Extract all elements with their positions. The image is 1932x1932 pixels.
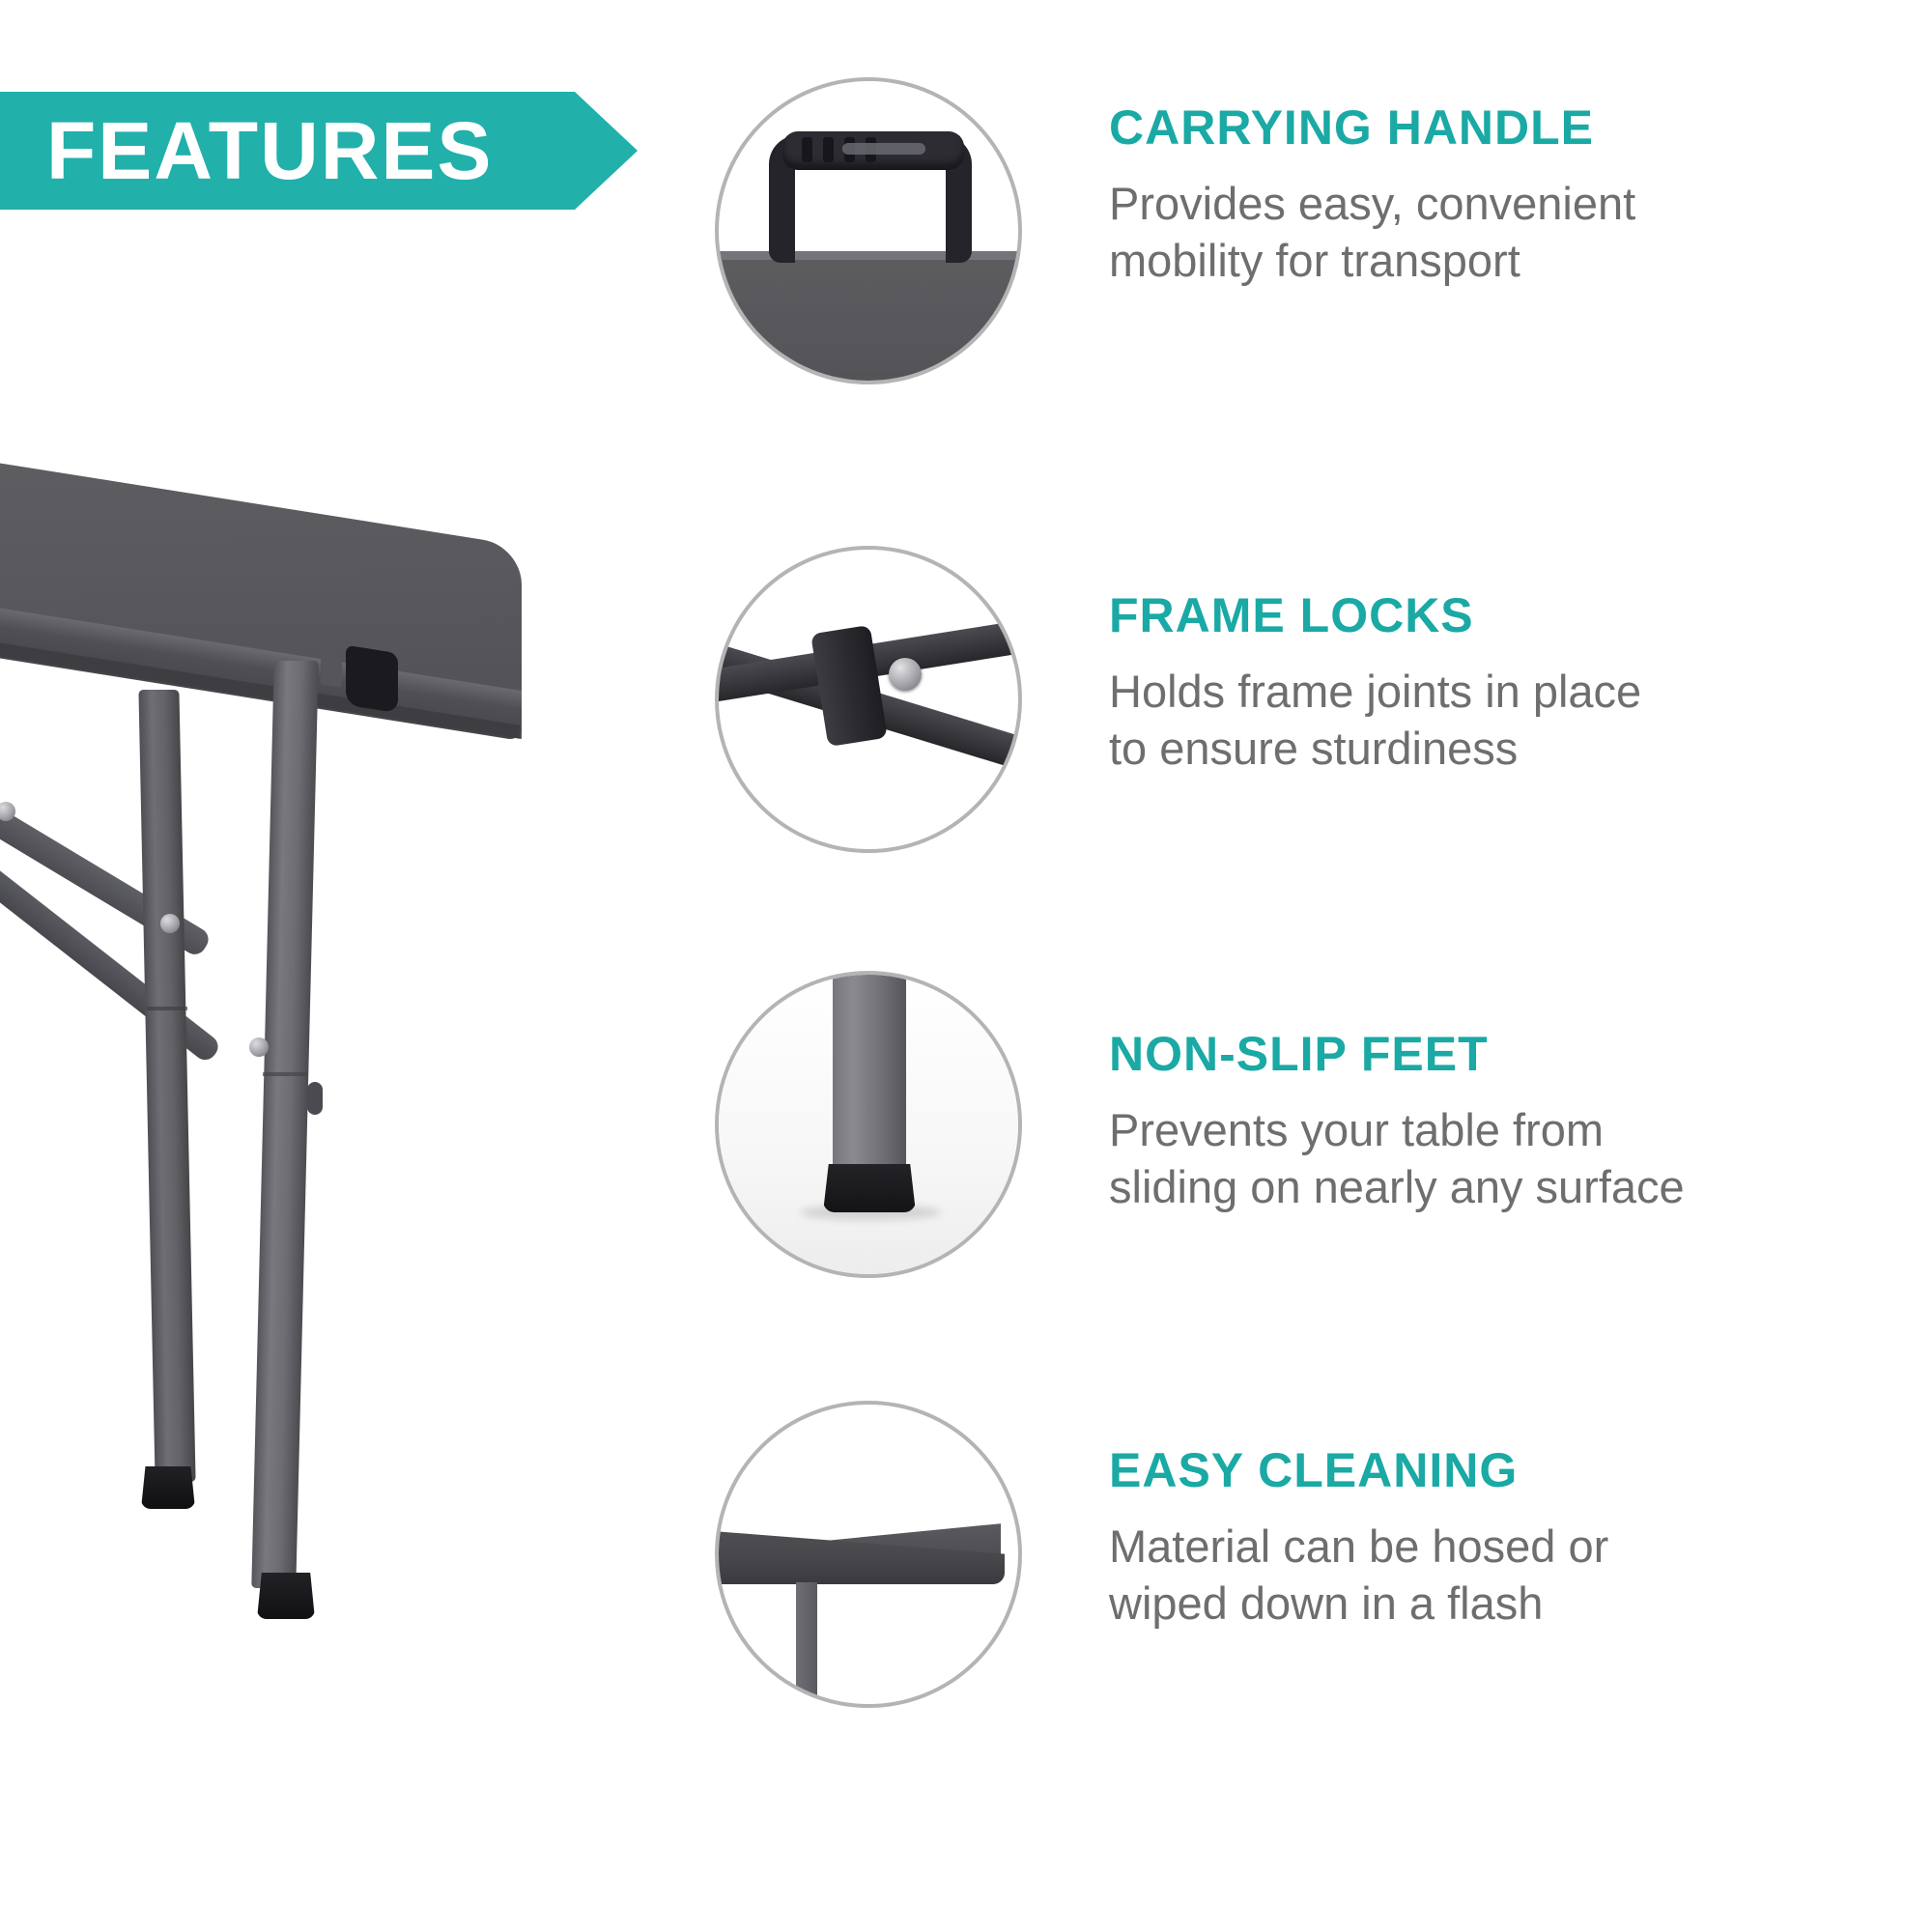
leg-seam-back [147, 1007, 187, 1010]
feature-text-block: NON-SLIP FEET Prevents your table from s… [1109, 971, 1843, 1216]
easy-cleaning-image [715, 1401, 1022, 1708]
handle-ridge [802, 137, 812, 162]
feature-non-slip-feet: NON-SLIP FEET Prevents your table from s… [715, 971, 1843, 1278]
feature-text-block: CARRYING HANDLE Provides easy, convenien… [1109, 77, 1843, 290]
feature-body-line-1: Provides easy, convenient [1109, 175, 1843, 233]
frame-locks-image [715, 546, 1022, 853]
feature-body-line-2: sliding on nearly any surface [1109, 1158, 1843, 1216]
leg-height-knob [307, 1082, 323, 1115]
carrying-handle-image [715, 77, 1022, 384]
table-latch-notch [321, 651, 342, 687]
feature-heading: NON-SLIP FEET [1109, 1029, 1843, 1080]
handle-ridge [823, 137, 834, 162]
table-foot-back [141, 1466, 195, 1509]
non-slip-feet-image [715, 971, 1022, 1278]
feature-heading: FRAME LOCKS [1109, 590, 1843, 641]
leg-seam-front [263, 1072, 307, 1076]
table-foot-front [257, 1573, 315, 1619]
feature-body-line-2: wiped down in a flash [1109, 1575, 1843, 1633]
feature-carrying-handle: CARRYING HANDLE Provides easy, convenien… [715, 77, 1843, 384]
feature-text-block: EASY CLEANING Material can be hosed or w… [1109, 1401, 1843, 1633]
feature-frame-locks: FRAME LOCKS Holds frame joints in place … [715, 546, 1843, 853]
table-edge-shape [715, 251, 1022, 384]
table-leg-front [251, 661, 318, 1588]
features-banner-label: FEATURES [46, 110, 493, 191]
brace-bolt-3 [249, 1037, 269, 1057]
table-leg-stub [796, 1582, 817, 1708]
feature-heading: CARRYING HANDLE [1109, 102, 1843, 154]
table-leg-back [138, 690, 195, 1482]
feature-body-line-2: mobility for transport [1109, 232, 1843, 290]
feature-body-line-1: Holds frame joints in place [1109, 663, 1843, 721]
table-leg-closeup [833, 971, 906, 1172]
table-brace-lower [0, 765, 222, 1065]
feature-heading: EASY CLEANING [1109, 1445, 1843, 1496]
feature-text-block: FRAME LOCKS Holds frame joints in place … [1109, 546, 1843, 778]
table-latch [346, 645, 398, 714]
feature-body-line-1: Prevents your table from [1109, 1101, 1843, 1159]
non-slip-foot-cap [823, 1164, 916, 1212]
frame-lock-rivet [889, 658, 922, 691]
feature-easy-cleaning: EASY CLEANING Material can be hosed or w… [715, 1401, 1843, 1708]
brace-bolt-2 [160, 914, 180, 933]
feature-body-line-1: Material can be hosed or [1109, 1518, 1843, 1576]
features-banner: FEATURES [0, 92, 638, 210]
feature-body-line-2: to ensure sturdiness [1109, 720, 1843, 778]
folding-table-photo [0, 454, 618, 1768]
handle-highlight [842, 143, 925, 155]
